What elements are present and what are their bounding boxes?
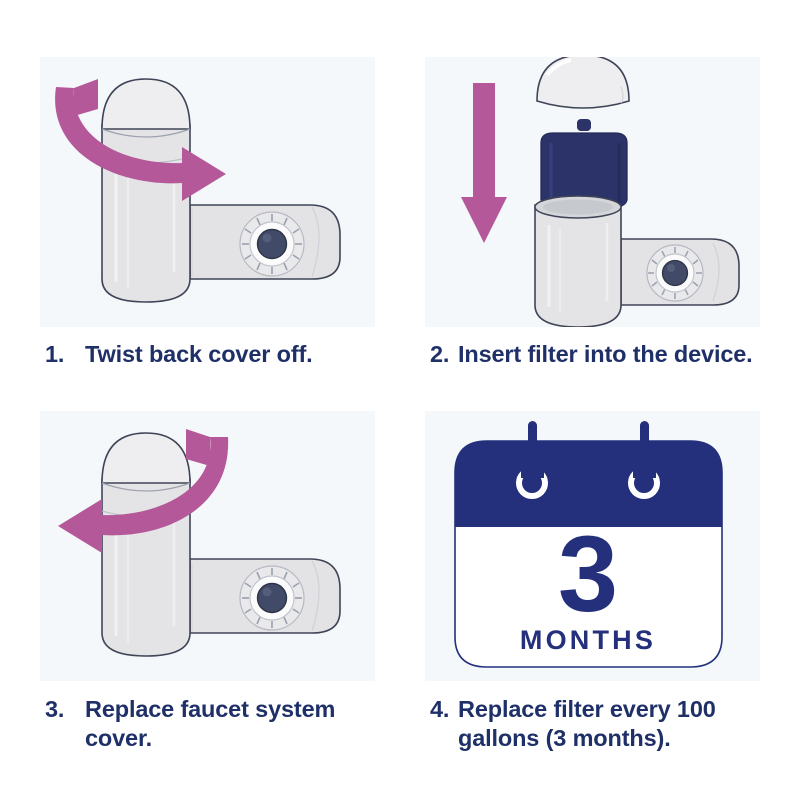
step-1-caption: 1. Twist back cover off. <box>45 340 390 369</box>
step-4-illustration-panel: 3 MONTHS <box>425 411 760 681</box>
nozzle-dial <box>647 245 703 301</box>
step-3-text: Replace faucet system cover. <box>85 695 390 754</box>
step-2-caption: 2. Insert filter into the device. <box>430 340 755 369</box>
step-3-number: 3. <box>45 695 85 724</box>
device-body <box>535 196 739 327</box>
step-1-illustration-panel <box>40 57 375 327</box>
step-3-illustration-panel <box>40 411 375 681</box>
device-body <box>102 79 340 302</box>
faucet-filter-twist-on-graphic <box>40 411 375 681</box>
detached-dome-cap <box>537 57 629 108</box>
step-4-caption: 4. Replace filter every 100 gallons (3 m… <box>430 695 770 754</box>
faucet-filter-insert-graphic <box>425 57 760 327</box>
calendar-big-number: 3 <box>558 513 618 634</box>
calendar-unit-label: MONTHS <box>520 625 656 655</box>
step-2-text: Insert filter into the device. <box>458 340 755 369</box>
step-2-number: 2. <box>430 340 458 369</box>
step-4-number: 4. <box>430 695 458 724</box>
nozzle-dial <box>240 212 304 276</box>
instruction-sheet: 1. Twist back cover off. <box>0 0 800 800</box>
step-1-text: Twist back cover off. <box>85 340 390 369</box>
step-1-number: 1. <box>45 340 85 369</box>
nozzle-dial <box>240 566 304 630</box>
insert-arrow-down-icon <box>461 83 507 243</box>
step-4-text: Replace filter every 100 gallons (3 mont… <box>458 695 770 754</box>
step-3-caption: 3. Replace faucet system cover. <box>45 695 390 754</box>
calendar-three-months-graphic: 3 MONTHS <box>425 411 760 681</box>
step-2-illustration-panel <box>425 57 760 327</box>
faucet-filter-twist-off-graphic <box>40 57 375 327</box>
